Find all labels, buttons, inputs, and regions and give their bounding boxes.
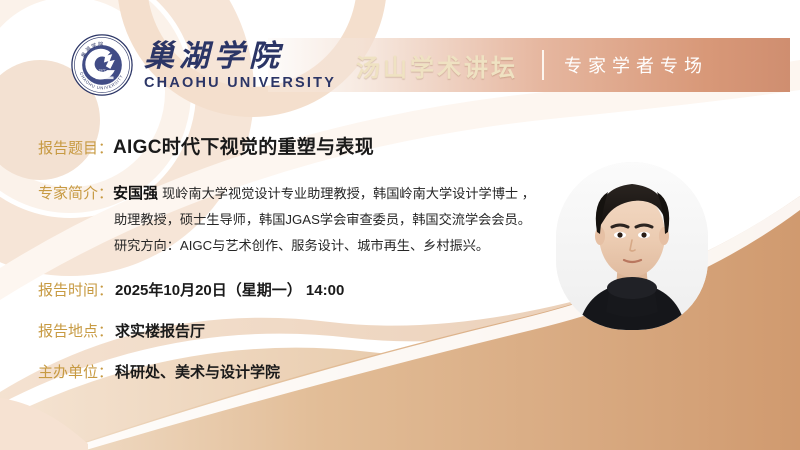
bio-line-1: 现岭南大学视觉设计专业助理教授，韩国岭南大学设计学博士 ， [162,181,535,207]
organizer-row: 主办单位： 科研处、美术与设计学院 [38,361,578,382]
speaker-portrait-image [556,162,708,330]
logo-english-name: CHAOHU UNIVERSITY [144,75,336,91]
time-value: 2025年10月20日（星期一） 14:00 [115,279,344,300]
svg-text:1977: 1977 [98,68,105,72]
poster-content: 报告题目： AIGC时代下视觉的重塑与表现 专家简介： 安国强 现岭南大学视觉设… [38,132,578,402]
bio-block: 专家简介： 安国强 现岭南大学视觉设计专业助理教授，韩国岭南大学设计学博士 ， … [38,181,578,259]
place-value: 求实楼报告厅 [115,320,205,341]
topic-row: 报告题目： AIGC时代下视觉的重塑与表现 [38,132,578,159]
bio-line-2: 助理教授，硕士生导师，韩国JGAS学会审查委员，韩国交流学会会员。 [38,207,578,233]
place-label: 报告地点： [38,320,113,341]
banner-divider [542,50,544,80]
banner-subtitle: 专家学者专场 [564,52,708,78]
seminar-poster: 汤山学术讲坛 专家学者专场 1977 巢 湖 学 院 CHAO [0,0,800,450]
university-logo: 1977 巢 湖 学 院 CHAOHU UNIVERSITY 巢湖学院 CHAO… [70,33,336,97]
topic-value: AIGC时代下视觉的重塑与表现 [113,132,374,159]
bio-label: 专家简介： [38,182,113,203]
speaker-portrait [556,162,708,330]
logo-chinese-name: 巢湖学院 [144,41,336,73]
speaker-name: 安国强 [113,182,158,203]
chaohu-university-seal-icon: 1977 巢 湖 学 院 CHAOHU UNIVERSITY [70,33,134,97]
poster-header: 汤山学术讲坛 专家学者专场 1977 巢 湖 学 院 CHAO [0,0,800,125]
organizer-label: 主办单位： [38,361,113,382]
place-row: 报告地点： 求实楼报告厅 [38,320,578,341]
topic-label: 报告题目： [38,137,113,158]
banner-strip: 汤山学术讲坛 专家学者专场 [268,38,790,92]
time-label: 报告时间： [38,279,113,300]
bio-line-3: 研究方向：AIGC与艺术创作、服务设计、城市再生、乡村振兴。 [38,233,578,259]
time-row: 报告时间： 2025年10月20日（星期一） 14:00 [38,279,578,300]
banner-title: 汤山学术讲坛 [356,48,518,83]
bio-first-line: 专家简介： 安国强 现岭南大学视觉设计专业助理教授，韩国岭南大学设计学博士 ， [38,181,578,207]
organizer-value: 科研处、美术与设计学院 [115,361,280,382]
